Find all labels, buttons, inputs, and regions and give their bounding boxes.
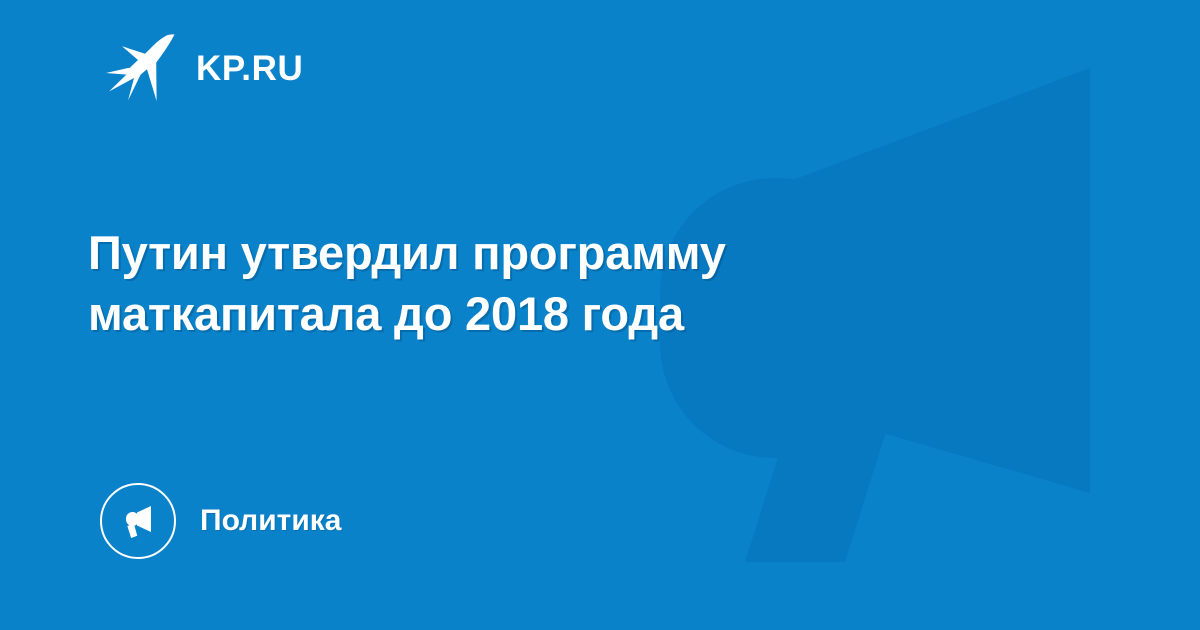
social-share-card: KP.RU Путин утвердил программу маткапита… [0,0,1200,630]
megaphone-icon [118,501,158,541]
headline: Путин утвердил программу маткапитала до … [88,222,928,344]
headline-line-2: маткапитала до 2018 года [88,283,928,344]
headline-line-1: Путин утвердил программу [88,222,928,283]
swallow-bird-icon [104,33,178,103]
category-label: Политика [200,506,341,536]
category-badge [100,483,176,559]
brand-name: KP.RU [196,51,303,86]
brand-header[interactable]: KP.RU [104,33,303,103]
category-tag[interactable]: Политика [100,483,341,559]
